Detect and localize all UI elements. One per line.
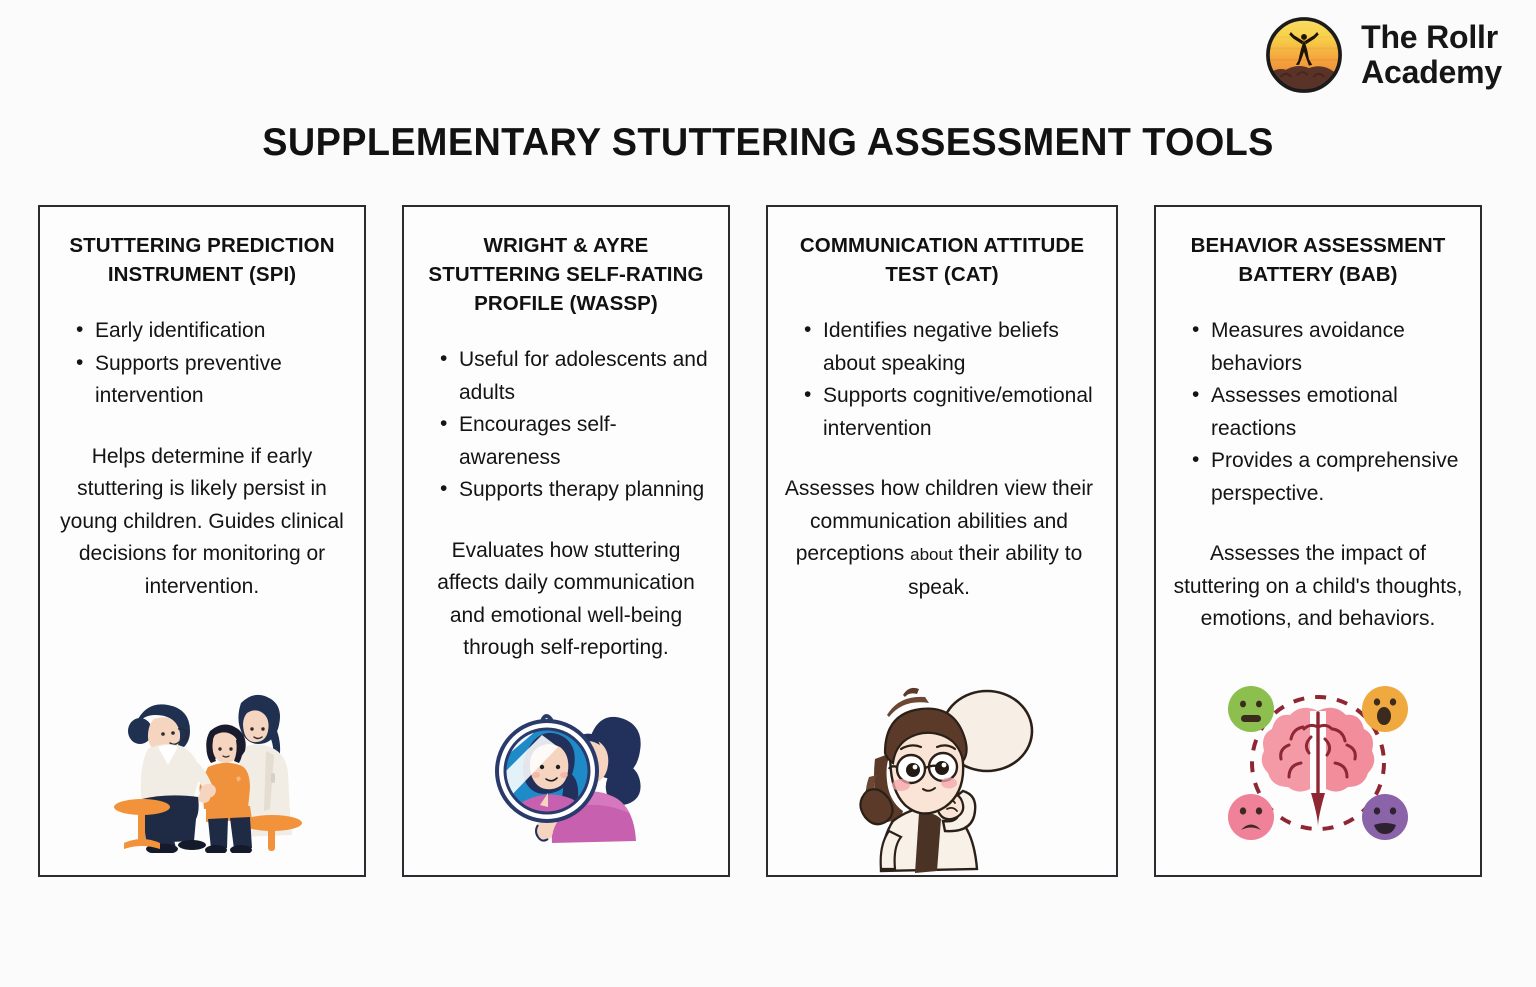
brand-name-line1: The Rollr xyxy=(1361,19,1498,55)
card-title: WRIGHT & AYRE STUTTERING SELF-RATING PRO… xyxy=(418,231,714,318)
brand-name: The RollrAcademy xyxy=(1361,20,1502,89)
card-stuttering-prediction-instrument: STUTTERING PREDICTION INSTRUMENT (SPI) E… xyxy=(38,205,366,877)
card-title: STUTTERING PREDICTION INSTRUMENT (SPI) xyxy=(54,231,350,289)
clinician-child-parent-session-illustration-icon xyxy=(54,673,350,875)
list-item: Early identification xyxy=(76,315,344,348)
card-description: Evaluates how stuttering affects daily c… xyxy=(418,535,714,665)
list-item: Encourages self-awareness xyxy=(440,409,708,474)
list-item: Supports preventive intervention xyxy=(76,348,344,413)
card-title: COMMUNICATION ATTITUDE TEST (CAT) xyxy=(782,231,1102,289)
list-item: Identifies negative beliefs about speaki… xyxy=(804,315,1096,380)
list-item: Measures avoidance behaviors xyxy=(1192,315,1460,380)
infographic-page: The RollrAcademy SUPPLEMENTARY STUTTERIN… xyxy=(0,0,1536,987)
list-item: Supports therapy planning xyxy=(440,474,708,507)
woman-looking-in-hand-mirror-illustration-icon xyxy=(418,689,714,875)
emotion-face-pink xyxy=(1228,794,1274,840)
card-bullet-list: Identifies negative beliefs about speaki… xyxy=(782,315,1102,445)
assessment-tool-cards: STUTTERING PREDICTION INSTRUMENT (SPI) E… xyxy=(38,205,1482,877)
list-item: Assesses emotional reactions xyxy=(1192,380,1460,445)
brain-with-emotion-faces-illustration-icon xyxy=(1170,683,1466,875)
sunset-jumper-circle-logo-icon xyxy=(1263,14,1345,96)
brand-name-line2: Academy xyxy=(1361,54,1502,90)
card-behavior-assessment-battery: BEHAVIOR ASSESSMENT BATTERY (BAB) Measur… xyxy=(1154,205,1482,877)
list-item: Supports cognitive/emotional interventio… xyxy=(804,380,1096,445)
emotion-face-purple xyxy=(1362,794,1408,840)
brand-logo: The RollrAcademy xyxy=(1263,14,1502,96)
page-title: SUPPLEMENTARY STUTTERING ASSESSMENT TOOL… xyxy=(23,121,1513,165)
card-bullet-list: Measures avoidance behaviors Assesses em… xyxy=(1170,315,1466,510)
card-wassp: WRIGHT & AYRE STUTTERING SELF-RATING PRO… xyxy=(402,205,730,877)
list-item: Provides a comprehensive perspective. xyxy=(1192,445,1460,510)
card-description: Assesses how children view their communi… xyxy=(776,473,1102,604)
card-description: Helps determine if early stuttering is l… xyxy=(54,441,350,604)
card-bullet-list: Early identification Supports preventive… xyxy=(54,315,350,413)
list-item: Useful for adolescents and adults xyxy=(440,344,708,409)
girl-with-glasses-thought-bubble-illustration-icon xyxy=(782,681,1102,881)
card-communication-attitude-test: COMMUNICATION ATTITUDE TEST (CAT) Identi… xyxy=(766,205,1118,877)
card-description-small: about xyxy=(910,545,953,564)
card-description: Assesses the impact of stuttering on a c… xyxy=(1170,538,1466,636)
card-bullet-list: Useful for adolescents and adults Encour… xyxy=(418,344,714,507)
emotion-face-orange xyxy=(1362,686,1408,732)
card-title: BEHAVIOR ASSESSMENT BATTERY (BAB) xyxy=(1170,231,1466,289)
emotion-face-green xyxy=(1228,686,1274,732)
